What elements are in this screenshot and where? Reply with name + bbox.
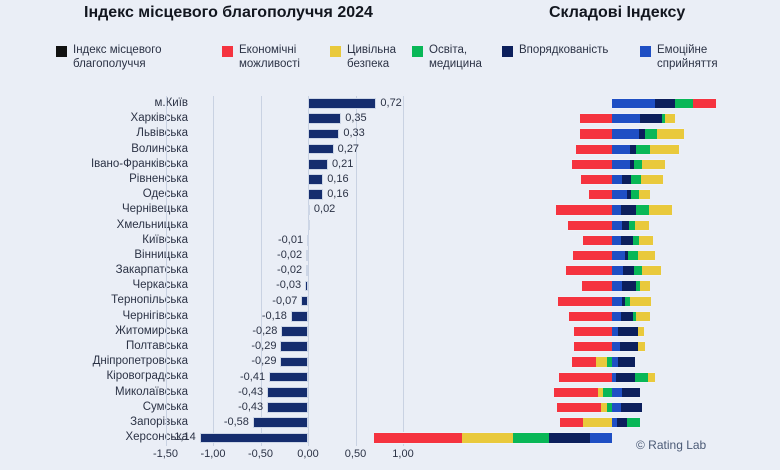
component-segment[interactable] — [618, 326, 637, 337]
category-label: Чернівецька — [0, 202, 196, 217]
component-segment[interactable] — [627, 417, 640, 428]
category-label: Київська — [0, 233, 196, 248]
component-segment[interactable] — [641, 174, 663, 185]
index-bar[interactable] — [307, 235, 309, 246]
component-segment[interactable] — [612, 189, 627, 200]
component-segment[interactable] — [572, 356, 596, 367]
component-segment[interactable] — [638, 341, 646, 352]
index-bar-row[interactable]: -0,18 — [196, 309, 428, 324]
component-segment[interactable] — [628, 250, 638, 261]
component-segment[interactable] — [616, 372, 634, 383]
category-label: Закарпатська — [0, 263, 196, 278]
component-segment[interactable] — [633, 235, 639, 246]
components-stacked-bar-chart — [430, 96, 780, 446]
component-segment[interactable] — [621, 235, 633, 246]
component-segment[interactable] — [642, 265, 660, 276]
component-segment[interactable] — [590, 432, 612, 443]
legend-item-emotional[interactable]: Емоційне сприйняття — [640, 44, 718, 71]
index-bar-value-label: -0,03 — [276, 279, 301, 292]
index-bar[interactable] — [308, 189, 323, 200]
legend-swatch-icon — [222, 46, 233, 57]
index-bar-row[interactable]: 0,27 — [196, 142, 428, 157]
index-bar-value-label: -0,43 — [238, 386, 263, 399]
component-segment[interactable] — [603, 387, 612, 398]
index-bar[interactable] — [308, 205, 310, 216]
component-bar-row[interactable] — [430, 157, 780, 172]
index-bar-value-label: 0,33 — [343, 127, 364, 140]
index-bar[interactable] — [280, 357, 308, 368]
legend-item-label: Економічні можливості — [239, 44, 300, 71]
component-segment[interactable] — [693, 98, 716, 109]
index-bar[interactable] — [306, 250, 308, 261]
index-bar-row[interactable]: 0,33 — [196, 126, 428, 141]
legend-item-civil_safety[interactable]: Цивільна безпека — [330, 44, 396, 71]
index-bar[interactable] — [267, 387, 308, 398]
component-segment[interactable] — [650, 144, 679, 155]
category-label: Кіровоградська — [0, 369, 196, 384]
index-bar-value-label: 0,27 — [338, 143, 359, 156]
legend-swatch-icon — [502, 46, 513, 57]
component-segment[interactable] — [612, 235, 621, 246]
index-bar-value-label: 0,16 — [327, 188, 348, 201]
legend-item-order[interactable]: Впорядкованість — [502, 44, 608, 58]
index-bar-row[interactable]: -0,07 — [196, 294, 428, 309]
index-bar-value-label: -0,43 — [238, 401, 263, 414]
component-segment[interactable] — [612, 296, 622, 307]
credit-text: © Rating Lab — [636, 438, 706, 452]
component-segment[interactable] — [569, 311, 612, 322]
index-bar[interactable] — [281, 326, 308, 337]
category-label: Рівненська — [0, 172, 196, 187]
category-label: Херсонська — [0, 430, 196, 445]
x-axis-tick-label: 1,00 — [392, 448, 413, 460]
component-segment[interactable] — [612, 159, 630, 170]
index-bar-row[interactable]: -0,29 — [196, 339, 428, 354]
x-axis-tick-label: -1,50 — [153, 448, 178, 460]
chart-page: Індекс місцевого благополуччя 2024 Склад… — [0, 0, 780, 470]
component-bar-row[interactable] — [430, 415, 780, 430]
component-segment[interactable] — [574, 326, 612, 337]
index-bar[interactable] — [301, 296, 308, 307]
category-label: м.Київ — [0, 96, 196, 111]
component-segment[interactable] — [582, 280, 612, 291]
x-axis-tick-label: -1,00 — [200, 448, 225, 460]
category-label: Івано-Франківська — [0, 157, 196, 172]
component-segment[interactable] — [642, 159, 665, 170]
component-segment[interactable] — [612, 387, 622, 398]
index-bar-value-label: -0,29 — [251, 355, 276, 368]
component-segment[interactable] — [612, 311, 621, 322]
category-label: Львівська — [0, 126, 196, 141]
component-bar-row[interactable] — [430, 142, 780, 157]
category-label: Запорізька — [0, 415, 196, 430]
component-segment[interactable] — [635, 372, 648, 383]
category-label: Волинська — [0, 142, 196, 157]
legend-swatch-icon — [640, 46, 651, 57]
component-segment[interactable] — [581, 174, 612, 185]
component-segment[interactable] — [639, 235, 653, 246]
component-bar-row[interactable] — [430, 324, 780, 339]
index-bar-value-label: 0,21 — [332, 158, 353, 171]
index-bar-value-label: -0,58 — [224, 416, 249, 429]
index-bar-value-label: -1,14 — [171, 431, 196, 444]
legend-item-label: Цивільна безпека — [347, 44, 396, 71]
component-segment[interactable] — [620, 341, 638, 352]
component-segment[interactable] — [612, 265, 623, 276]
component-segment[interactable] — [612, 144, 630, 155]
component-segment[interactable] — [554, 387, 598, 398]
index-bar[interactable] — [308, 220, 310, 231]
index-bar-value-label: -0,02 — [277, 249, 302, 262]
component-bar-row[interactable] — [430, 233, 780, 248]
index-bar[interactable] — [305, 281, 308, 292]
index-bar[interactable] — [269, 372, 308, 383]
component-segment[interactable] — [574, 341, 612, 352]
component-segment[interactable] — [675, 98, 693, 109]
index-bar[interactable] — [308, 98, 376, 109]
index-bar-row[interactable]: -0,41 — [196, 370, 428, 385]
index-bar-value-label: -0,28 — [252, 325, 277, 338]
component-bar-row[interactable] — [430, 400, 780, 415]
index-bar-row[interactable]: -0,29 — [196, 354, 428, 369]
legend-item-education[interactable]: Освіта, медицина — [412, 44, 482, 71]
category-label: Одеська — [0, 187, 196, 202]
category-label: Чернігівська — [0, 309, 196, 324]
index-bar-row[interactable]: 0,16 — [196, 172, 428, 187]
index-bar-value-label: 0,02 — [314, 203, 335, 216]
component-bar-row[interactable] — [430, 187, 780, 202]
component-segment[interactable] — [549, 432, 590, 443]
category-label: Хмельницька — [0, 218, 196, 233]
legend: Індекс місцевого благополуччяЕкономічні … — [0, 44, 780, 84]
index-bar[interactable] — [253, 417, 308, 428]
component-bar-row[interactable] — [430, 248, 780, 263]
component-segment[interactable] — [657, 128, 684, 139]
component-segment[interactable] — [612, 220, 622, 231]
category-label: Сумська — [0, 400, 196, 415]
component-segment[interactable] — [617, 417, 627, 428]
index-bar-value-label: 0,16 — [327, 173, 348, 186]
index-bar-value-label: -0,02 — [277, 264, 302, 277]
page-title-right: Складові Індексу — [549, 4, 685, 22]
component-bar-row[interactable] — [430, 263, 780, 278]
component-segment[interactable] — [630, 296, 651, 307]
legend-swatch-icon — [56, 46, 67, 57]
index-bar[interactable] — [291, 311, 308, 322]
component-segment[interactable] — [634, 265, 643, 276]
component-bar-row[interactable] — [430, 278, 780, 293]
component-segment[interactable] — [640, 280, 650, 291]
legend-item-label: Емоційне сприйняття — [657, 44, 718, 71]
index-bar-row[interactable]: 0,35 — [196, 111, 428, 126]
component-segment[interactable] — [640, 113, 662, 124]
category-label: Черкаська — [0, 278, 196, 293]
component-segment[interactable] — [576, 144, 612, 155]
component-segment[interactable] — [612, 250, 625, 261]
component-segment[interactable] — [612, 341, 620, 352]
legend-item-economic[interactable]: Економічні можливості — [222, 44, 300, 71]
category-label: Дніпропетровська — [0, 354, 196, 369]
component-segment[interactable] — [622, 387, 640, 398]
component-segment[interactable] — [631, 174, 641, 185]
legend-item-label: Впорядкованість — [519, 44, 608, 58]
component-segment[interactable] — [513, 432, 550, 443]
component-segment[interactable] — [645, 128, 657, 139]
component-segment[interactable] — [621, 311, 633, 322]
component-segment[interactable] — [573, 250, 612, 261]
index-bar-row[interactable]: -0,03 — [196, 278, 428, 293]
x-axis-tick-label: -0,50 — [248, 448, 273, 460]
index-bar[interactable] — [306, 265, 308, 276]
index-bar-row[interactable]: -0,43 — [196, 385, 428, 400]
index-bar-row[interactable]: -0,43 — [196, 400, 428, 415]
component-segment[interactable] — [568, 220, 612, 231]
index-bar[interactable] — [308, 159, 328, 170]
index-bar-row[interactable]: -0,01 — [196, 233, 428, 248]
component-segment[interactable] — [665, 113, 675, 124]
x-axis-tick-label: 0,00 — [297, 448, 318, 460]
component-bar-row[interactable] — [430, 430, 780, 445]
index-bar[interactable] — [308, 144, 334, 155]
legend-item-index[interactable]: Індекс місцевого благополуччя — [56, 44, 162, 71]
index-bar-row[interactable]: -0,02 — [196, 248, 428, 263]
legend-swatch-icon — [412, 46, 423, 57]
component-segment[interactable] — [636, 204, 649, 215]
component-segment[interactable] — [612, 128, 639, 139]
index-bar-row[interactable]: 0,02 — [196, 202, 428, 217]
index-bar-value-label: 0,72 — [380, 97, 401, 110]
component-segment[interactable] — [557, 402, 601, 413]
component-segment[interactable] — [638, 326, 644, 337]
component-segment[interactable] — [612, 174, 622, 185]
legend-swatch-icon — [330, 46, 341, 57]
legend-item-label: Індекс місцевого благополуччя — [73, 44, 162, 71]
index-bar-row[interactable]: 0,21 — [196, 157, 428, 172]
index-bar[interactable] — [280, 341, 308, 352]
component-segment[interactable] — [612, 280, 622, 291]
page-title-left: Індекс місцевого благополуччя 2024 — [84, 4, 373, 22]
component-segment[interactable] — [649, 204, 673, 215]
component-bar-row[interactable] — [430, 111, 780, 126]
component-segment[interactable] — [596, 356, 607, 367]
component-bar-row[interactable] — [430, 218, 780, 233]
component-segment[interactable] — [618, 356, 634, 367]
category-label-column: м.КиївХарківськаЛьвівськаВолинськаІвано-… — [0, 96, 196, 445]
component-bar-row[interactable] — [430, 339, 780, 354]
index-bar-value-label: -0,01 — [278, 234, 303, 247]
index-bar-row[interactable]: -0,02 — [196, 263, 428, 278]
category-label: Житомирська — [0, 324, 196, 339]
component-segment[interactable] — [558, 296, 612, 307]
index-bar-row[interactable]: 0,72 — [196, 96, 428, 111]
component-segment[interactable] — [638, 250, 655, 261]
component-segment[interactable] — [621, 402, 643, 413]
index-bar-value-label: -0,18 — [262, 310, 287, 323]
component-segment[interactable] — [648, 372, 656, 383]
index-bar-row[interactable] — [196, 218, 428, 233]
index-bar[interactable] — [200, 433, 308, 444]
index-bar-value-label: -0,29 — [251, 340, 276, 353]
component-segment[interactable] — [583, 417, 612, 428]
component-segment[interactable] — [612, 402, 621, 413]
component-segment[interactable] — [374, 432, 461, 443]
index-bar[interactable] — [267, 402, 308, 413]
index-bar-value-label: -0,41 — [240, 371, 265, 384]
component-segment[interactable] — [612, 204, 621, 215]
component-bar-row[interactable] — [430, 202, 780, 217]
index-bar[interactable] — [308, 174, 323, 185]
component-bar-row[interactable] — [430, 309, 780, 324]
component-segment[interactable] — [622, 220, 630, 231]
x-axis-tick-label: 0,50 — [345, 448, 366, 460]
category-label: Вінницька — [0, 248, 196, 263]
category-label: Харківська — [0, 111, 196, 126]
gridline — [166, 96, 167, 446]
component-segment[interactable] — [580, 113, 612, 124]
component-segment[interactable] — [655, 98, 674, 109]
x-axis-ticks: -1,50-1,00-0,500,000,501,00 — [196, 448, 436, 470]
component-segment[interactable] — [631, 189, 639, 200]
component-segment[interactable] — [635, 220, 649, 231]
component-segment[interactable] — [612, 113, 640, 124]
index-bar[interactable] — [308, 113, 341, 124]
component-segment[interactable] — [622, 174, 632, 185]
component-segment[interactable] — [580, 128, 612, 139]
component-segment[interactable] — [634, 159, 643, 170]
component-bar-row[interactable] — [430, 96, 780, 111]
component-segment[interactable] — [612, 98, 655, 109]
component-bar-row[interactable] — [430, 294, 780, 309]
index-bar-row[interactable]: 0,16 — [196, 187, 428, 202]
component-segment[interactable] — [572, 159, 612, 170]
component-segment[interactable] — [560, 417, 583, 428]
component-bar-row[interactable] — [430, 385, 780, 400]
component-segment[interactable] — [566, 265, 612, 276]
index-bar-value-label: -0,07 — [272, 295, 297, 308]
index-bar-row[interactable]: -0,28 — [196, 324, 428, 339]
component-bar-row[interactable] — [430, 172, 780, 187]
category-label: Миколаївська — [0, 385, 196, 400]
component-segment[interactable] — [636, 311, 650, 322]
component-segment[interactable] — [462, 432, 513, 443]
component-segment[interactable] — [639, 189, 650, 200]
component-segment[interactable] — [559, 372, 612, 383]
component-segment[interactable] — [622, 280, 636, 291]
index-bar-chart: 0,720,350,330,270,210,160,160,02-0,01-0,… — [196, 96, 428, 446]
component-segment[interactable] — [621, 204, 636, 215]
component-segment[interactable] — [589, 189, 612, 200]
component-bar-row[interactable] — [430, 370, 780, 385]
index-bar[interactable] — [308, 129, 339, 140]
component-segment[interactable] — [556, 204, 612, 215]
index-bar-value-label: 0,35 — [345, 112, 366, 125]
legend-item-label: Освіта, медицина — [429, 44, 482, 71]
component-bar-row[interactable] — [430, 354, 780, 369]
component-segment[interactable] — [583, 235, 612, 246]
index-bar-row[interactable]: -0,58 — [196, 415, 428, 430]
component-segment[interactable] — [636, 144, 650, 155]
component-segment[interactable] — [623, 265, 634, 276]
category-label: Полтавська — [0, 339, 196, 354]
component-bar-row[interactable] — [430, 126, 780, 141]
category-label: Тернопільська — [0, 293, 196, 308]
